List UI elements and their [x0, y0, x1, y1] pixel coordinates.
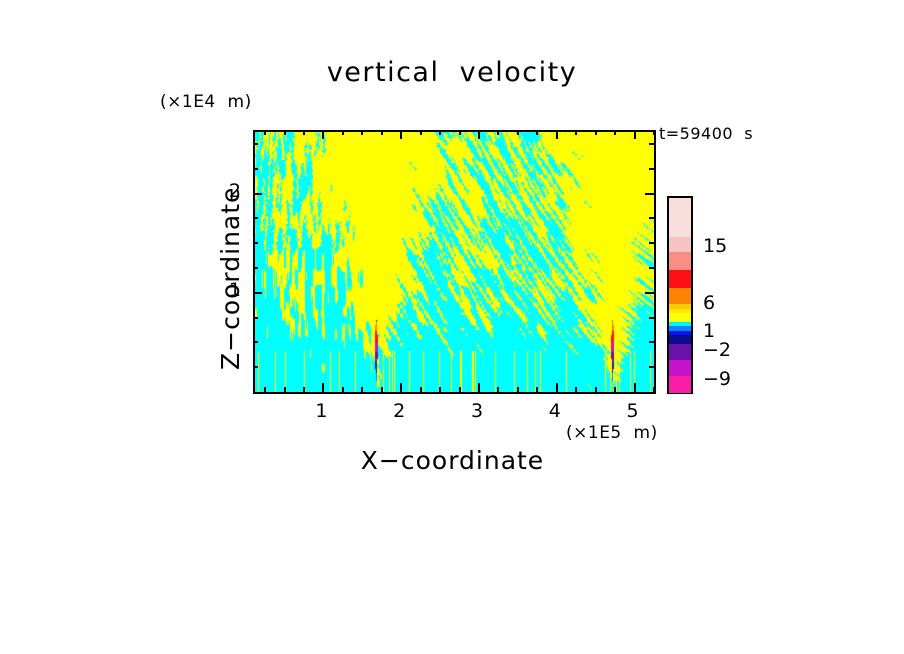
x-tick-top: [595, 130, 597, 135]
x-tick: [264, 387, 266, 392]
y-tick: [253, 317, 258, 319]
colorbar-tick-label: −9: [703, 368, 731, 390]
colorbar-tick-label: 6: [703, 292, 715, 314]
time-annotation: t=59400 s: [659, 124, 753, 143]
x-tick-top: [381, 130, 383, 135]
colorbar-band: [669, 252, 691, 270]
x-tick: [478, 383, 480, 392]
x-tick-top: [322, 130, 324, 139]
colorbar-band: [669, 237, 691, 253]
x-tick: [342, 387, 344, 392]
x-tick: [284, 387, 286, 392]
y-tick: [253, 366, 258, 368]
x-tick: [420, 387, 422, 392]
x-tick-top: [634, 130, 636, 139]
x-tick-label: 5: [618, 400, 648, 422]
colorbar-band: [669, 270, 691, 289]
x-tick-top: [420, 130, 422, 135]
x-tick-top: [478, 130, 480, 139]
plot-area: [253, 130, 656, 394]
x-tick-top: [556, 130, 558, 139]
y-tick-right: [645, 193, 654, 195]
x-tick: [653, 387, 655, 392]
x-tick: [634, 383, 636, 392]
y-tick-label: 1: [211, 279, 241, 301]
x-tick-top: [517, 130, 519, 135]
x-unit-label: (×1E5 m): [566, 423, 658, 443]
x-tick: [556, 383, 558, 392]
y-tick-right: [649, 317, 654, 319]
colorbar-tick-label: 15: [703, 235, 727, 257]
velocity-field-heatmap: [255, 132, 654, 392]
x-tick-top: [439, 130, 441, 135]
y-tick-right: [649, 217, 654, 219]
y-tick: [253, 143, 258, 145]
x-tick-label: 1: [306, 400, 336, 422]
x-tick: [497, 387, 499, 392]
y-tick-right: [649, 267, 654, 269]
x-tick-label: 3: [462, 400, 492, 422]
x-tick-top: [361, 130, 363, 135]
y-tick: [253, 242, 258, 244]
y-tick: [253, 217, 258, 219]
y-tick: [253, 168, 258, 170]
y-tick-right: [645, 292, 654, 294]
x-tick-top: [536, 130, 538, 135]
x-tick-top: [284, 130, 286, 135]
x-tick-label: 2: [384, 400, 414, 422]
x-tick: [517, 387, 519, 392]
colorbar-band: [669, 360, 691, 377]
x-tick: [400, 383, 402, 392]
x-tick: [614, 387, 616, 392]
y-tick-label: 2: [211, 180, 241, 202]
x-tick: [381, 387, 383, 392]
y-tick-right: [649, 168, 654, 170]
colorbar-band: [669, 288, 691, 305]
x-tick-top: [653, 130, 655, 135]
y-tick: [253, 292, 262, 294]
x-tick-top: [303, 130, 305, 135]
y-tick-right: [649, 366, 654, 368]
x-tick-top: [575, 130, 577, 135]
x-tick: [439, 387, 441, 392]
y-unit-label: (×1E4 m): [160, 92, 252, 112]
colorbar-band: [669, 344, 691, 361]
x-tick: [536, 387, 538, 392]
x-tick-top: [400, 130, 402, 139]
x-tick-top: [459, 130, 461, 135]
colorbar: [667, 196, 693, 394]
x-tick: [361, 387, 363, 392]
x-tick-top: [497, 130, 499, 135]
x-tick: [459, 387, 461, 392]
colorbar-tick-label: −2: [703, 339, 731, 361]
y-tick-right: [649, 143, 654, 145]
page-title: vertical velocity: [0, 57, 904, 88]
y-tick: [253, 267, 258, 269]
y-tick-right: [649, 242, 654, 244]
y-tick: [253, 341, 258, 343]
x-tick: [595, 387, 597, 392]
colorbar-band: [669, 198, 691, 238]
x-tick-label: 4: [540, 400, 570, 422]
x-tick: [303, 387, 305, 392]
x-tick: [575, 387, 577, 392]
colorbar-band: [669, 376, 691, 393]
x-tick-top: [614, 130, 616, 135]
x-tick: [322, 383, 324, 392]
y-tick-right: [649, 341, 654, 343]
figure-canvas: vertical velocity (×1E4 m) (×1E5 m) t=59…: [0, 0, 904, 654]
x-tick-top: [264, 130, 266, 135]
y-tick: [253, 193, 262, 195]
x-tick-top: [342, 130, 344, 135]
x-axis-title: X−coordinate: [253, 446, 652, 475]
